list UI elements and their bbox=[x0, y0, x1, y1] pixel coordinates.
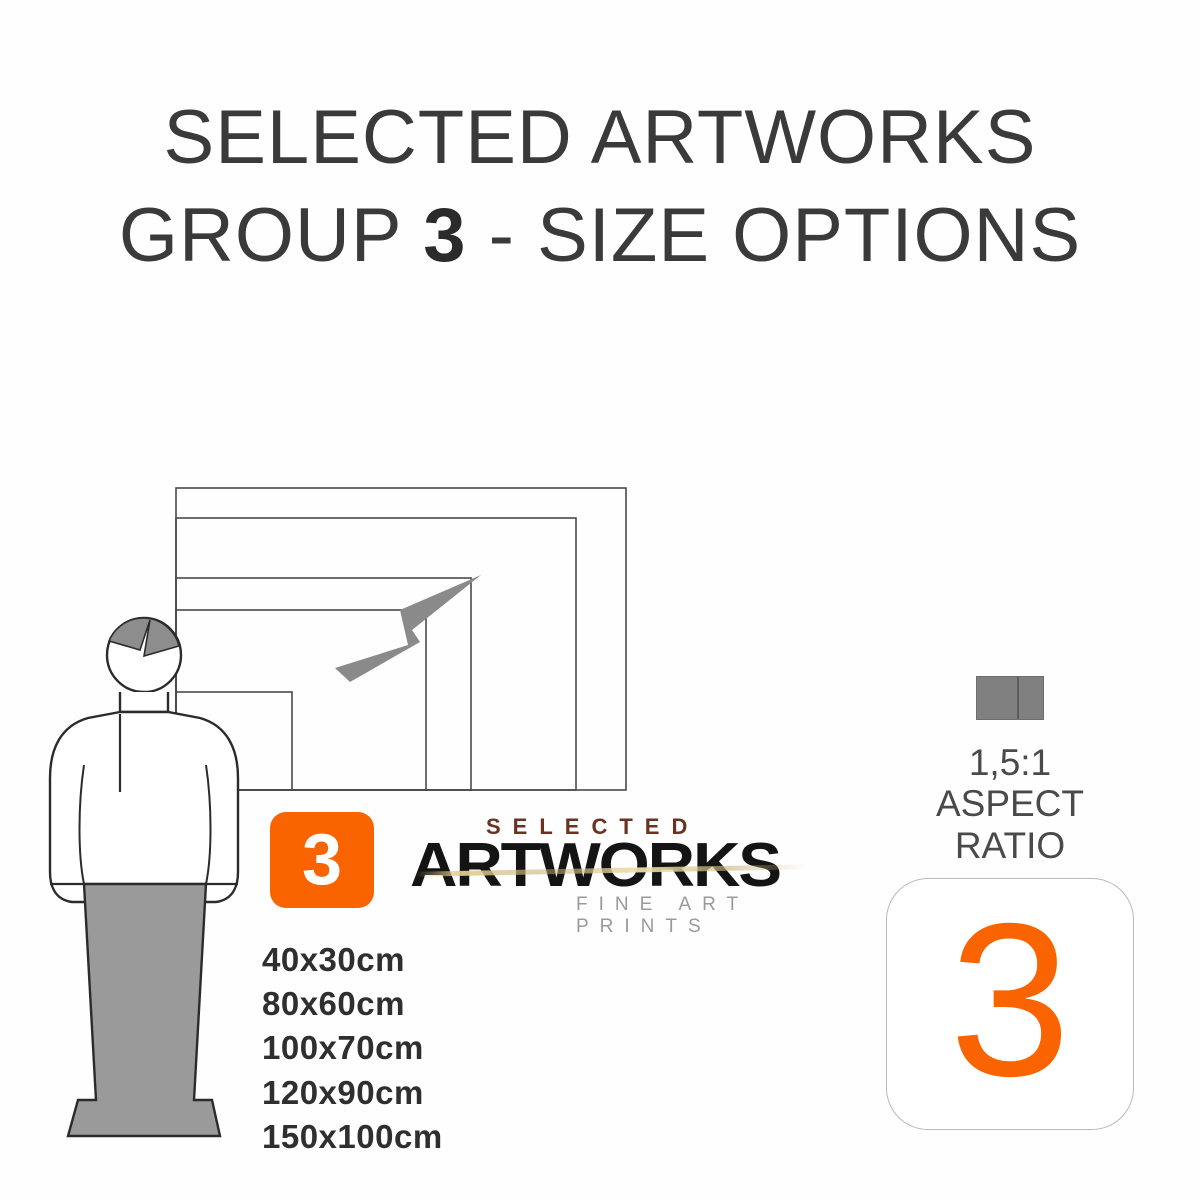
aspect-ratio-label: 1,5:1 ASPECT RATIO bbox=[900, 742, 1120, 866]
aspect-ratio-word-1: ASPECT bbox=[900, 783, 1120, 824]
group-number-tile: 3 bbox=[886, 878, 1134, 1130]
title-group-number: 3 bbox=[423, 193, 466, 278]
logo-wordmark: SELECTED ARTWORKS FINE ART PRINTS bbox=[394, 812, 844, 922]
logo-tagline: FINE ART PRINTS bbox=[576, 894, 844, 938]
size-option: 80x60cm bbox=[262, 982, 443, 1026]
group-badge: 3 bbox=[270, 812, 374, 908]
size-option: 150x100cm bbox=[262, 1115, 443, 1159]
size-options-list: 40x30cm 80x60cm 100x70cm 120x90cm 150x10… bbox=[262, 938, 443, 1159]
title-line-2: GROUP 3 - SIZE OPTIONS bbox=[0, 198, 1200, 274]
logo-artworks-text: ARTWORKS bbox=[410, 830, 780, 901]
poster-canvas: SELECTED ARTWORKS GROUP 3 - SIZE OPTIONS bbox=[0, 0, 1200, 1200]
title-line-1: SELECTED ARTWORKS bbox=[0, 100, 1200, 176]
person-neck bbox=[120, 692, 168, 712]
aspect-swatch-divider bbox=[1017, 677, 1019, 719]
size-option: 40x30cm bbox=[262, 938, 443, 982]
person-legs bbox=[68, 884, 220, 1136]
aspect-ratio-block: 1,5:1 ASPECT RATIO bbox=[900, 676, 1120, 866]
size-option: 120x90cm bbox=[262, 1071, 443, 1115]
group-number-tile-value: 3 bbox=[949, 905, 1070, 1097]
person-silhouette-icon bbox=[40, 600, 290, 1160]
page-title: SELECTED ARTWORKS GROUP 3 - SIZE OPTIONS bbox=[0, 100, 1200, 274]
title-line-2-suffix: - SIZE OPTIONS bbox=[467, 193, 1082, 278]
aspect-ratio-swatch-icon bbox=[976, 676, 1044, 720]
aspect-ratio-word-2: RATIO bbox=[900, 825, 1120, 866]
brand-logo: 3 SELECTED ARTWORKS FINE ART PRINTS bbox=[270, 812, 844, 922]
title-line-2-prefix: GROUP bbox=[119, 193, 423, 278]
size-option: 100x70cm bbox=[262, 1026, 443, 1070]
growth-arrow-icon bbox=[335, 575, 481, 682]
aspect-ratio-value: 1,5:1 bbox=[900, 742, 1120, 783]
